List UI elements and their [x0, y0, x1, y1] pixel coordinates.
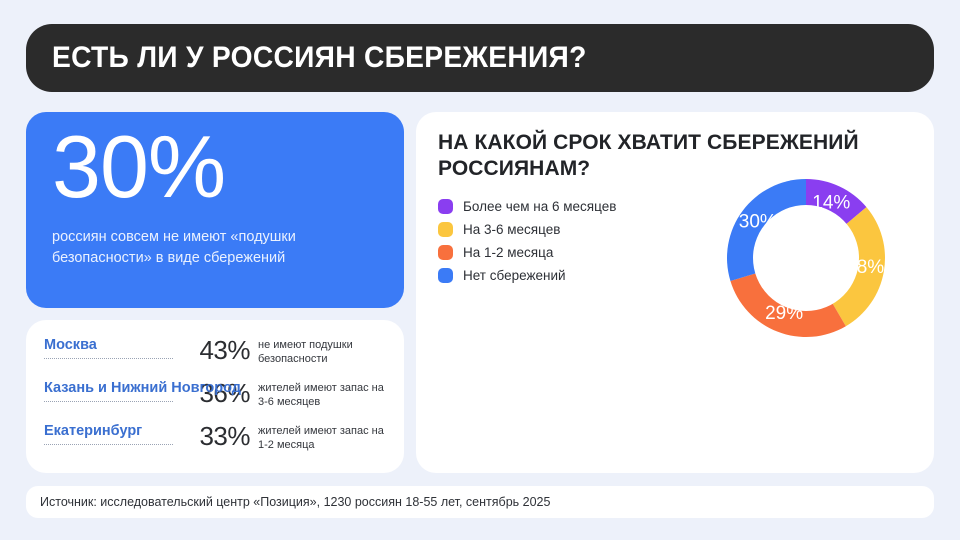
donut-slice-label: 30%	[739, 211, 777, 232]
headline-stat-value: 30%	[52, 118, 376, 217]
infographic-page: ЕСТЬ ЛИ У РОССИЯН СБЕРЕЖЕНИЯ? 30% россия…	[0, 0, 960, 540]
chart-legend: Более чем на 6 месяцевНа 3-6 месяцевНа 1…	[438, 199, 688, 283]
legend-row: На 1-2 месяца	[438, 245, 688, 260]
legend-color-swatch	[438, 268, 453, 283]
donut-slice-label: 28%	[846, 257, 884, 278]
city-name: Екатеринбург	[44, 423, 176, 440]
city-description: не имеют подушки безопасности	[258, 335, 386, 366]
city-leader-line	[44, 400, 173, 402]
city-name-wrap: Казань и Нижний Новгород	[44, 378, 176, 402]
city-row: Екатеринбург33%жителей имеют запас на 1-…	[44, 421, 386, 461]
legend-label: Более чем на 6 месяцев	[463, 199, 616, 214]
legend-row: Более чем на 6 месяцев	[438, 199, 688, 214]
legend-color-swatch	[438, 245, 453, 260]
donut-chart-card: НА КАКОЙ СРОК ХВАТИТ СБЕРЕЖЕНИЙ РОССИЯНА…	[416, 112, 934, 473]
header-bar: ЕСТЬ ЛИ У РОССИЯН СБЕРЕЖЕНИЯ?	[26, 24, 934, 92]
city-leader-line	[44, 357, 173, 359]
city-row: Казань и Нижний Новгород36%жителей имеют…	[44, 378, 386, 418]
legend-row: Нет сбережений	[438, 268, 688, 283]
donut-chart: 14%28%29%30%	[701, 153, 911, 363]
legend-color-swatch	[438, 222, 453, 237]
donut-slice-label: 29%	[765, 303, 803, 324]
legend-label: Нет сбережений	[463, 268, 566, 283]
city-percent-value: 43%	[176, 335, 250, 363]
headline-stat-card: 30% россиян совсем не имеют «подушки без…	[26, 112, 404, 308]
donut-slice-label: 14%	[812, 193, 850, 214]
page-title: ЕСТЬ ЛИ У РОССИЯН СБЕРЕЖЕНИЯ?	[52, 41, 587, 75]
city-description: жителей имеют запас на 3-6 месяцев	[258, 378, 386, 409]
city-percent-value: 33%	[176, 421, 250, 449]
legend-row: На 3-6 месяцев	[438, 222, 688, 237]
city-leader-line	[44, 443, 173, 445]
legend-label: На 3-6 месяцев	[463, 222, 560, 237]
cities-card: Москва43%не имеют подушки безопасностиКа…	[26, 320, 404, 473]
city-name: Москва	[44, 337, 176, 354]
city-name-wrap: Екатеринбург	[44, 421, 176, 445]
city-row: Москва43%не имеют подушки безопасности	[44, 335, 386, 375]
source-text: Источник: исследовательский центр «Позиц…	[40, 495, 550, 509]
headline-stat-caption: россиян совсем не имеют «подушки безопас…	[52, 227, 376, 269]
donut-chart-svg: 14%28%29%30%	[701, 153, 911, 363]
legend-label: На 1-2 месяца	[463, 245, 553, 260]
city-name: Казань и Нижний Новгород	[44, 380, 176, 397]
city-name-wrap: Москва	[44, 335, 176, 359]
legend-color-swatch	[438, 199, 453, 214]
source-bar: Источник: исследовательский центр «Позиц…	[26, 486, 934, 518]
city-description: жителей имеют запас на 1-2 месяца	[258, 421, 386, 452]
